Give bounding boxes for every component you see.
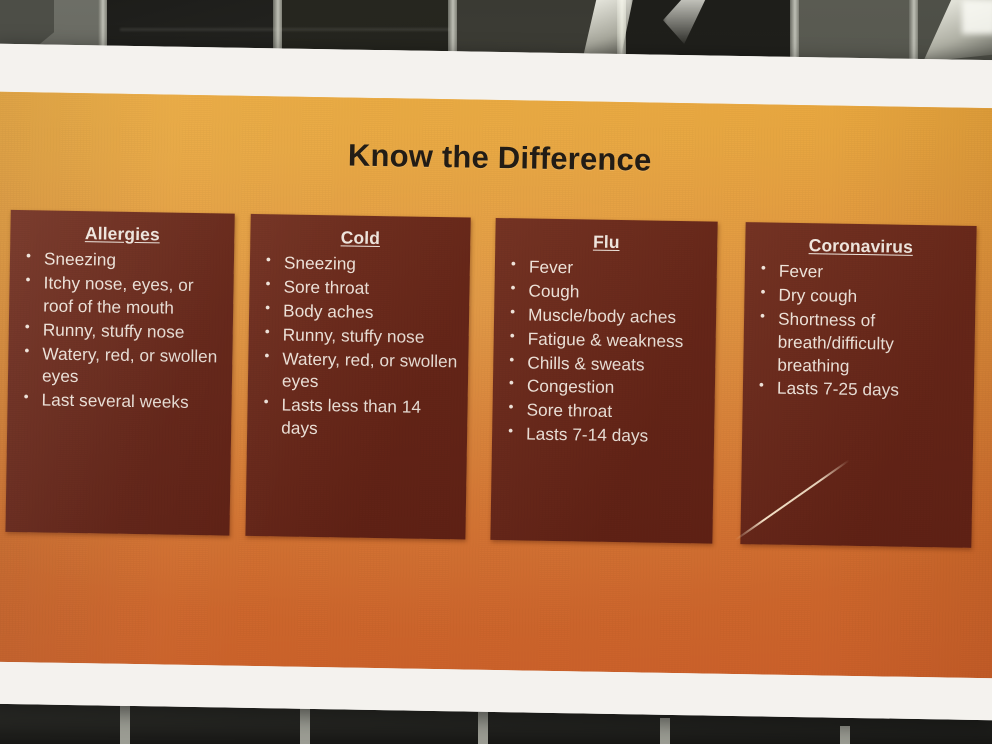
list-item: Chills & sweats bbox=[501, 351, 709, 377]
list-item: Lasts less than 14 days bbox=[255, 393, 462, 442]
lower-mullion-1 bbox=[120, 700, 130, 744]
poster-printed-area: Know the Difference Allergies Sneezing I… bbox=[0, 92, 992, 679]
list-item: Watery, red, or swollen eyes bbox=[16, 342, 227, 391]
lower-mullion-4 bbox=[660, 718, 670, 744]
list-item: Lasts 7-14 days bbox=[500, 422, 708, 448]
list-item: Sneezing bbox=[18, 247, 228, 273]
card-title-coronavirus: Coronavirus bbox=[745, 234, 976, 259]
background-horizon-line bbox=[120, 28, 450, 31]
list-item: Last several weeks bbox=[15, 388, 225, 414]
photo-scene: Know the Difference Allergies Sneezing I… bbox=[0, 0, 992, 744]
list-item: Muscle/body aches bbox=[502, 303, 710, 329]
list-item: Dry cough bbox=[752, 283, 969, 309]
list-item: Cough bbox=[502, 279, 710, 305]
card-title-allergies: Allergies bbox=[10, 222, 234, 247]
list-item: Congestion bbox=[501, 374, 709, 400]
list-item: Fatigue & weakness bbox=[502, 327, 710, 353]
symptom-list-allergies: Sneezing Itchy nose, eyes, or roof of th… bbox=[7, 247, 234, 415]
lower-mullion-2 bbox=[300, 706, 310, 744]
list-item: Sneezing bbox=[258, 251, 464, 277]
card-title-cold: Cold bbox=[250, 226, 470, 251]
paper-surface: Know the Difference Allergies Sneezing I… bbox=[0, 44, 992, 721]
symptom-list-flu: Fever Cough Muscle/body aches Fatigue & … bbox=[492, 255, 717, 449]
list-item: Shortness of breath/difficulty breathing bbox=[751, 307, 969, 379]
symptom-list-cold: Sneezing Sore throat Body aches Runny, s… bbox=[247, 251, 470, 443]
printed-poster-paper: Know the Difference Allergies Sneezing I… bbox=[0, 44, 992, 721]
list-item: Lasts 7-25 days bbox=[751, 377, 968, 403]
light-reflection-far-right bbox=[962, 0, 992, 34]
lower-mullion-3 bbox=[478, 712, 488, 744]
card-cold: Cold Sneezing Sore throat Body aches Run… bbox=[245, 214, 470, 540]
card-flu: Flu Fever Cough Muscle/body aches Fatigu… bbox=[490, 218, 717, 544]
list-item: Fever bbox=[503, 255, 711, 281]
list-item: Fever bbox=[753, 259, 970, 285]
list-item: Watery, red, or swollen eyes bbox=[256, 347, 463, 396]
list-item: Body aches bbox=[257, 299, 463, 325]
lower-mullion-5 bbox=[840, 726, 850, 744]
list-item: Itchy nose, eyes, or roof of the mouth bbox=[17, 271, 228, 320]
card-title-flu: Flu bbox=[495, 230, 717, 255]
card-coronavirus: Coronavirus Fever Dry cough Shortness of… bbox=[740, 222, 976, 548]
list-item: Sore throat bbox=[500, 398, 708, 424]
list-item: Sore throat bbox=[257, 275, 463, 301]
list-item: Runny, stuffy nose bbox=[17, 318, 227, 344]
list-item: Runny, stuffy nose bbox=[257, 323, 463, 349]
symptom-list-coronavirus: Fever Dry cough Shortness of breath/diff… bbox=[743, 259, 976, 403]
card-allergies: Allergies Sneezing Itchy nose, eyes, or … bbox=[5, 210, 234, 536]
